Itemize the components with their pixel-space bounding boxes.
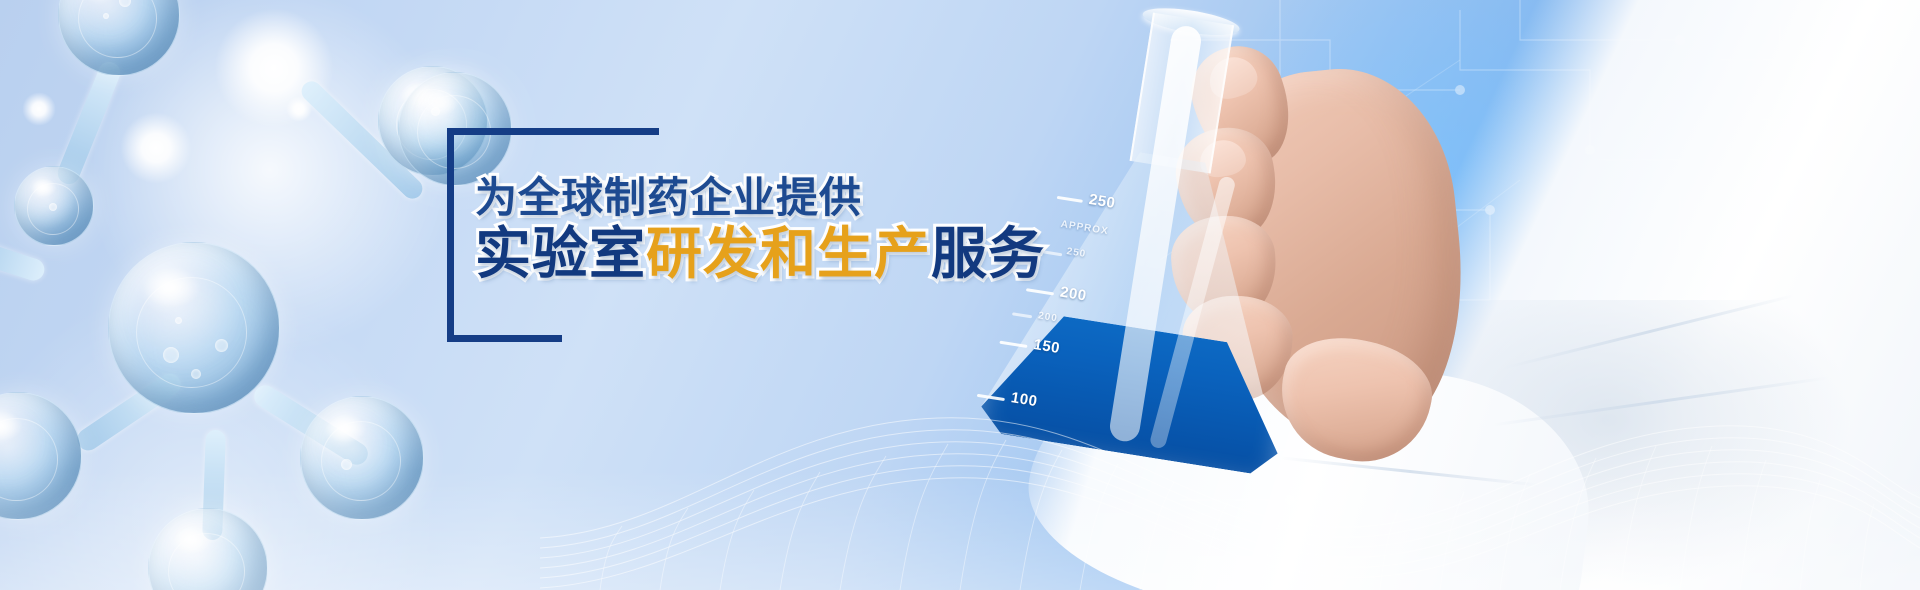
molecule-atom <box>108 242 280 414</box>
molecule-atom <box>58 0 180 76</box>
mesh-wave-icon <box>540 340 1920 590</box>
headline-segment-rnd: 研发和生产 <box>646 222 931 287</box>
molecule-atom <box>300 396 424 520</box>
molecule-atom <box>0 392 82 520</box>
headline-block: 为全球制药企业提供 实验室研发和生产服务 <box>447 128 947 338</box>
headline-line-1: 为全球制药企业提供 <box>475 176 1045 221</box>
molecule-atom <box>14 166 94 246</box>
headline-lines: 为全球制药企业提供 实验室研发和生产服务 <box>475 176 1045 284</box>
headline-line-2: 实验室研发和生产服务 <box>475 225 1045 284</box>
headline-segment-lab: 实验室 <box>475 222 646 287</box>
hero-banner: 250 APPROX 250 200 200 150 100 <box>0 0 1920 590</box>
flask-sub-label-250: 250 <box>1066 246 1087 260</box>
molecule-atom <box>148 508 268 590</box>
flask-graduation-250: 250 <box>1088 191 1117 212</box>
headline-segment-service: 服务 <box>931 222 1045 287</box>
decorative-bracket-top <box>447 128 659 135</box>
